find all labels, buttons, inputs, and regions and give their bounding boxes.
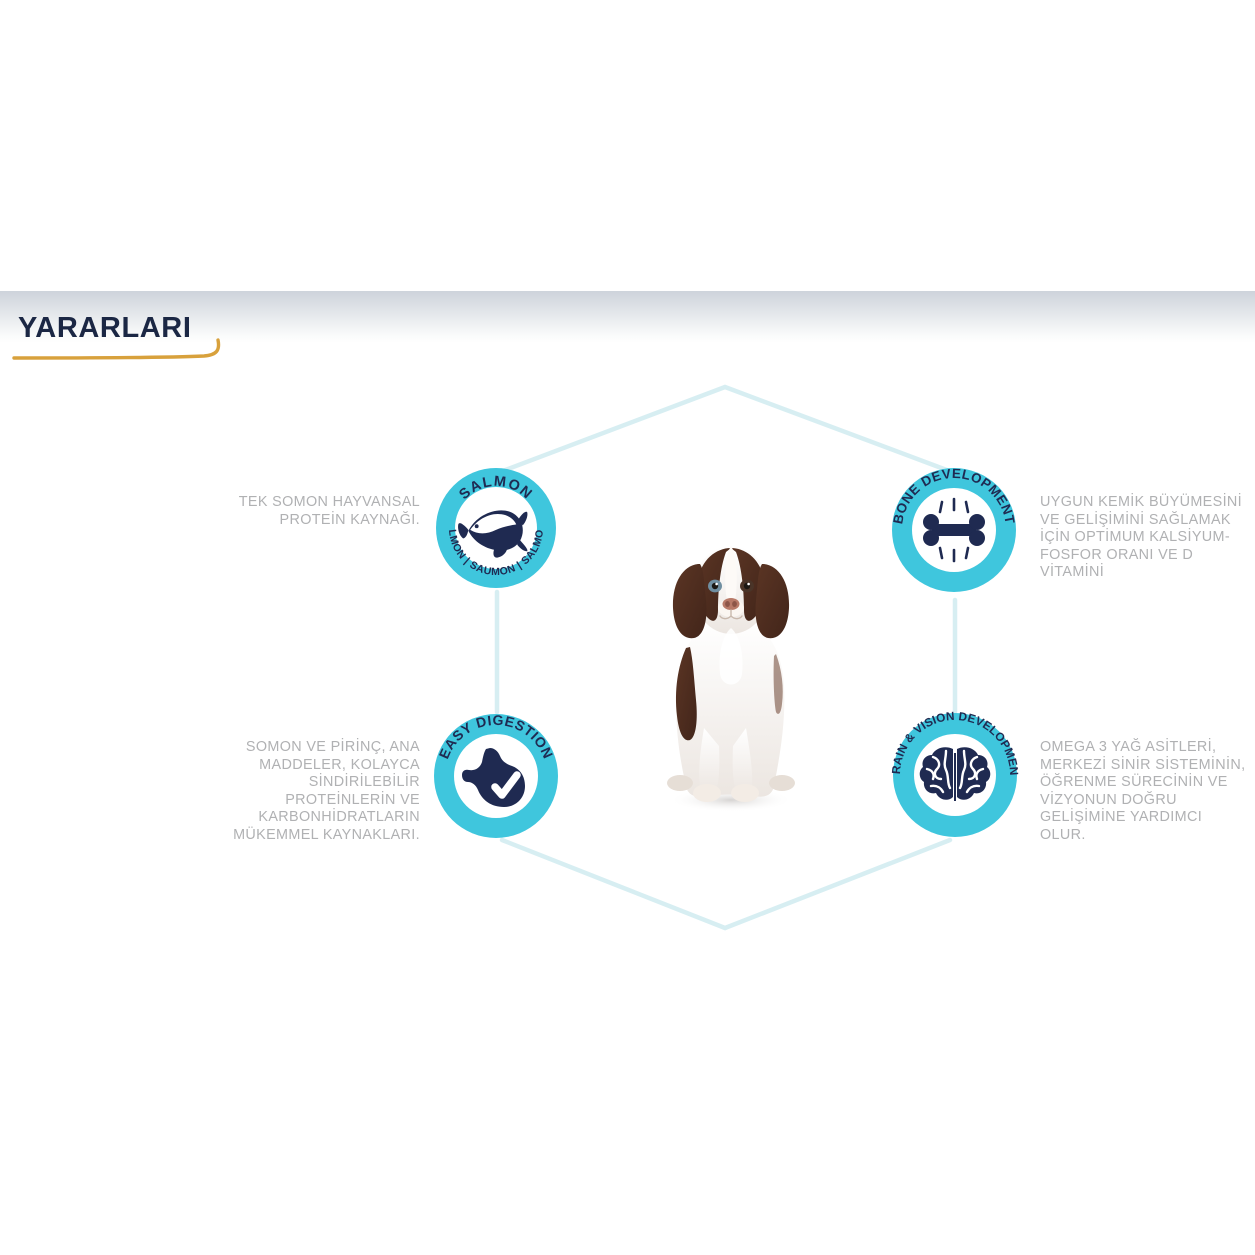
caption-salmon: TEK SOMON HAYVANSAL PROTEİN KAYNAĞI. bbox=[200, 494, 420, 529]
caption-easy-digestion: SOMON VE PİRİNÇ, ANA MADDELER, KOLAYCA S… bbox=[196, 739, 420, 845]
caption-brain-vision-development: OMEGA 3 YAĞ ASİTLERİ, MERKEZİ SİNİR SİST… bbox=[1040, 739, 1250, 845]
badge-easy-digestion[interactable]: EASY DIGESTION bbox=[432, 712, 560, 840]
puppy-photo bbox=[646, 528, 816, 816]
hexagon-connector-lines bbox=[0, 0, 1255, 1255]
badge-brain-vision-development[interactable]: BRAIN & VISION DEVELOPMENT bbox=[891, 711, 1019, 839]
badge-bone-development[interactable]: BONE DEVELOPMENT bbox=[890, 466, 1018, 594]
badge-salmon[interactable]: SALMON SALMON | SAUMON | SALMONE bbox=[434, 466, 558, 590]
benefits-page: YARARLARI SA bbox=[0, 0, 1255, 1255]
title-underline-swoosh bbox=[12, 336, 232, 364]
caption-bone-development: UYGUN KEMİK BÜYÜMESİNİ VE GELİŞİMİNİ SAĞ… bbox=[1040, 494, 1250, 582]
